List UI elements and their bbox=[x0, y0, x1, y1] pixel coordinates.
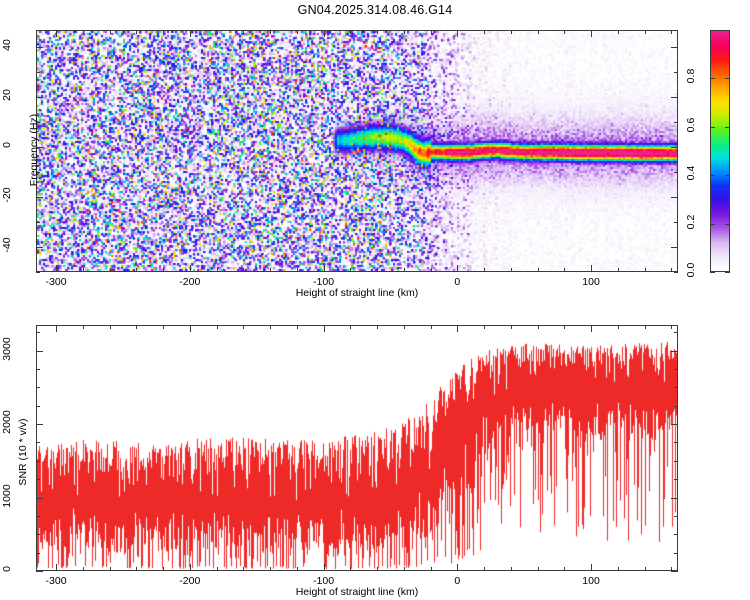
axis-tick bbox=[350, 30, 351, 34]
axis-tick bbox=[404, 567, 405, 571]
axis-tick bbox=[243, 567, 244, 571]
axis-tick bbox=[511, 268, 512, 272]
y-tick-label: -40 bbox=[1, 222, 13, 268]
axis-tick bbox=[645, 268, 646, 272]
axis-tick bbox=[674, 442, 678, 443]
axis-tick bbox=[674, 534, 678, 535]
axis-tick bbox=[645, 567, 646, 571]
axis-tick bbox=[538, 30, 539, 34]
axis-tick bbox=[83, 268, 84, 272]
axis-tick bbox=[484, 30, 485, 34]
axis-tick bbox=[36, 424, 43, 425]
axis-tick bbox=[297, 30, 298, 34]
axis-tick bbox=[243, 30, 244, 34]
axis-tick bbox=[674, 332, 678, 333]
axis-tick bbox=[350, 268, 351, 272]
axis-tick bbox=[324, 325, 325, 332]
axis-tick bbox=[136, 30, 137, 34]
axis-tick bbox=[36, 498, 43, 499]
axis-tick bbox=[671, 147, 678, 148]
snr-x-axis-title: Height of straight line (km) bbox=[36, 586, 678, 598]
axis-tick bbox=[674, 461, 678, 462]
axis-tick bbox=[511, 567, 512, 571]
axis-tick bbox=[190, 564, 191, 571]
colorbar-gradient bbox=[711, 31, 729, 271]
axis-tick bbox=[297, 268, 298, 272]
axis-tick bbox=[36, 406, 40, 407]
colorbar-tick bbox=[725, 78, 730, 79]
axis-tick bbox=[270, 325, 271, 329]
axis-tick bbox=[671, 424, 678, 425]
axis-tick bbox=[56, 564, 57, 571]
axis-tick bbox=[645, 325, 646, 329]
axis-tick bbox=[36, 369, 40, 370]
axis-tick bbox=[83, 30, 84, 34]
y-tick-label: -20 bbox=[1, 172, 13, 218]
colorbar-tick-label: 0.8 bbox=[685, 59, 697, 93]
axis-tick bbox=[350, 567, 351, 571]
axis-tick bbox=[36, 272, 40, 273]
axis-tick bbox=[564, 268, 565, 272]
axis-tick bbox=[591, 265, 592, 272]
snr-canvas bbox=[37, 326, 677, 570]
axis-tick bbox=[457, 265, 458, 272]
axis-tick bbox=[36, 516, 40, 517]
snr-y-axis-title: SNR (10 * v/v) bbox=[17, 372, 29, 532]
axis-tick bbox=[618, 30, 619, 34]
axis-tick bbox=[110, 567, 111, 571]
axis-tick bbox=[674, 222, 678, 223]
colorbar-tick bbox=[710, 272, 715, 273]
axis-tick bbox=[674, 122, 678, 123]
axis-tick bbox=[671, 47, 678, 48]
axis-tick bbox=[671, 351, 678, 352]
axis-tick bbox=[190, 265, 191, 272]
axis-tick bbox=[674, 172, 678, 173]
axis-tick bbox=[297, 567, 298, 571]
y-tick-label: 3000 bbox=[1, 326, 13, 372]
axis-tick bbox=[83, 325, 84, 329]
axis-tick bbox=[671, 325, 672, 329]
y-tick-label: 40 bbox=[1, 22, 13, 68]
axis-tick bbox=[674, 516, 678, 517]
y-tick-label: 0 bbox=[1, 122, 13, 168]
axis-tick bbox=[484, 268, 485, 272]
axis-tick bbox=[136, 268, 137, 272]
axis-tick bbox=[404, 325, 405, 329]
axis-tick bbox=[538, 268, 539, 272]
axis-tick bbox=[457, 325, 458, 332]
axis-tick bbox=[484, 325, 485, 329]
spectrogram-plot-area bbox=[37, 31, 677, 271]
snr-plot-area bbox=[37, 326, 677, 570]
axis-tick bbox=[324, 265, 325, 272]
axis-tick bbox=[564, 325, 565, 329]
axis-tick bbox=[591, 564, 592, 571]
axis-tick bbox=[163, 567, 164, 571]
axis-tick bbox=[36, 534, 40, 535]
snr-panel bbox=[36, 325, 678, 571]
axis-tick bbox=[377, 268, 378, 272]
axis-tick bbox=[163, 325, 164, 329]
axis-tick bbox=[243, 268, 244, 272]
axis-tick bbox=[457, 564, 458, 571]
colorbar-tick bbox=[710, 224, 715, 225]
axis-tick bbox=[564, 567, 565, 571]
axis-tick bbox=[36, 332, 40, 333]
axis-tick bbox=[671, 97, 678, 98]
axis-tick bbox=[217, 567, 218, 571]
colorbar-tick bbox=[725, 127, 730, 128]
page-title: GN04.2025.314.08.46.G14 bbox=[0, 3, 750, 17]
axis-tick bbox=[110, 268, 111, 272]
colorbar-tick bbox=[710, 78, 715, 79]
axis-tick bbox=[110, 30, 111, 34]
axis-tick bbox=[243, 325, 244, 329]
axis-tick bbox=[36, 351, 43, 352]
axis-tick bbox=[324, 30, 325, 37]
axis-tick bbox=[457, 30, 458, 37]
axis-tick bbox=[36, 479, 40, 480]
axis-tick bbox=[431, 567, 432, 571]
axis-tick bbox=[671, 197, 678, 198]
axis-tick bbox=[270, 268, 271, 272]
axis-tick bbox=[671, 247, 678, 248]
axis-tick bbox=[110, 325, 111, 329]
axis-tick bbox=[270, 30, 271, 34]
axis-tick bbox=[484, 567, 485, 571]
axis-tick bbox=[36, 387, 40, 388]
y-tick-label: 20 bbox=[1, 72, 13, 118]
axis-tick bbox=[36, 442, 40, 443]
axis-tick bbox=[163, 30, 164, 34]
axis-tick bbox=[591, 325, 592, 332]
colorbar-tick bbox=[710, 175, 715, 176]
colorbar-tick bbox=[710, 127, 715, 128]
axis-tick bbox=[591, 30, 592, 37]
spectrogram-panel bbox=[36, 30, 678, 272]
spectrogram-canvas bbox=[37, 31, 677, 271]
axis-tick bbox=[217, 30, 218, 34]
axis-tick bbox=[36, 247, 43, 248]
axis-tick bbox=[671, 30, 672, 34]
axis-tick bbox=[350, 325, 351, 329]
axis-tick bbox=[404, 268, 405, 272]
axis-tick bbox=[36, 571, 43, 572]
y-tick-label: 1000 bbox=[1, 473, 13, 519]
axis-tick bbox=[190, 325, 191, 332]
axis-tick bbox=[511, 325, 512, 329]
axis-tick bbox=[671, 498, 678, 499]
axis-tick bbox=[36, 461, 40, 462]
axis-tick bbox=[564, 30, 565, 34]
axis-tick bbox=[136, 325, 137, 329]
colorbar-tick-label: 0.6 bbox=[685, 108, 697, 142]
axis-tick bbox=[674, 553, 678, 554]
axis-tick bbox=[217, 325, 218, 329]
axis-tick bbox=[270, 567, 271, 571]
axis-tick bbox=[404, 30, 405, 34]
axis-tick bbox=[431, 325, 432, 329]
axis-tick bbox=[56, 30, 57, 37]
axis-tick bbox=[163, 268, 164, 272]
axis-tick bbox=[671, 268, 672, 272]
spectrogram-x-axis-title: Height of straight line (km) bbox=[36, 287, 678, 299]
colorbar bbox=[710, 30, 730, 272]
axis-tick bbox=[538, 325, 539, 329]
axis-tick bbox=[377, 567, 378, 571]
axis-tick bbox=[431, 30, 432, 34]
axis-tick bbox=[511, 30, 512, 34]
spectrogram-y-axis-title: Frequency (Hz) bbox=[28, 70, 40, 230]
axis-tick bbox=[56, 265, 57, 272]
colorbar-tick bbox=[725, 175, 730, 176]
axis-tick bbox=[324, 564, 325, 571]
colorbar-tick-label: 0.0 bbox=[685, 253, 697, 287]
colorbar-tick-label: 0.4 bbox=[685, 156, 697, 190]
colorbar-tick bbox=[725, 224, 730, 225]
axis-tick bbox=[618, 325, 619, 329]
axis-tick bbox=[674, 369, 678, 370]
axis-tick bbox=[36, 47, 43, 48]
axis-tick bbox=[645, 30, 646, 34]
axis-tick bbox=[36, 553, 40, 554]
axis-tick bbox=[674, 272, 678, 273]
axis-tick bbox=[56, 325, 57, 332]
axis-tick bbox=[377, 325, 378, 329]
axis-tick bbox=[297, 325, 298, 329]
axis-tick bbox=[217, 268, 218, 272]
axis-tick bbox=[377, 30, 378, 34]
colorbar-tick bbox=[725, 272, 730, 273]
axis-tick bbox=[538, 567, 539, 571]
axis-tick bbox=[136, 567, 137, 571]
colorbar-tick-label: 0.2 bbox=[685, 205, 697, 239]
figure-root: GN04.2025.314.08.46.G14 -300-200-1000100… bbox=[0, 0, 750, 600]
axis-tick bbox=[618, 268, 619, 272]
axis-tick bbox=[674, 406, 678, 407]
axis-tick bbox=[618, 567, 619, 571]
axis-tick bbox=[674, 387, 678, 388]
axis-tick bbox=[674, 72, 678, 73]
axis-tick bbox=[431, 268, 432, 272]
y-tick-label: 0 bbox=[1, 546, 13, 592]
axis-tick bbox=[671, 571, 678, 572]
y-tick-label: 2000 bbox=[1, 399, 13, 445]
axis-tick bbox=[83, 567, 84, 571]
axis-tick bbox=[190, 30, 191, 37]
axis-tick bbox=[674, 479, 678, 480]
